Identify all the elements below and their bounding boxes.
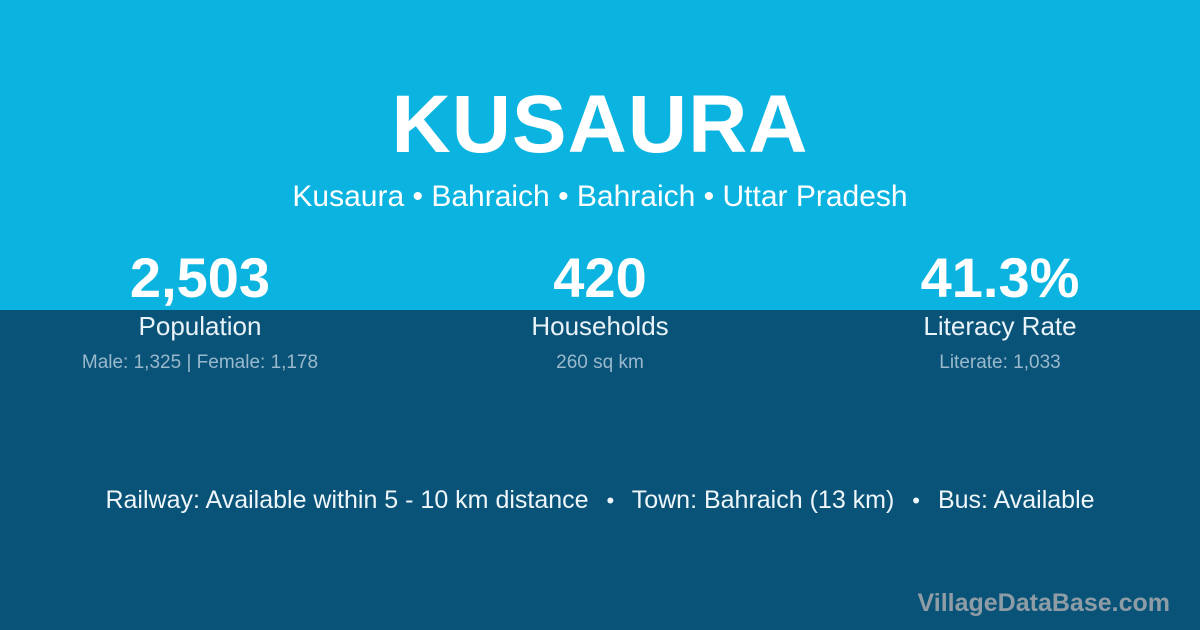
stat-population-label: Population <box>0 310 400 342</box>
stat-households-value: 420 <box>400 246 800 310</box>
card-header: KUSAURA Kusaura • Bahraich • Bahraich • … <box>0 0 1200 212</box>
amenity-railway: Railway: Available within 5 - 10 km dist… <box>105 486 588 514</box>
stat-literacy-rate: 41.3% Literacy Rate Literate: 1,033 <box>800 246 1200 374</box>
amenities-line: Railway: Available within 5 - 10 km dist… <box>0 483 1200 518</box>
site-brand-watermark: VillageDataBase.com <box>918 588 1170 618</box>
stat-literacy-rate-label: Literacy Rate <box>800 310 1200 342</box>
stat-population: 2,503 Population Male: 1,325 | Female: 1… <box>0 246 400 374</box>
breadcrumb: Kusaura • Bahraich • Bahraich • Uttar Pr… <box>0 166 1200 212</box>
amenity-bus: Bus: Available <box>938 486 1095 514</box>
amenity-separator-icon: • <box>901 484 931 518</box>
village-info-card: KUSAURA Kusaura • Bahraich • Bahraich • … <box>0 0 1200 630</box>
stat-literacy-rate-value: 41.3% <box>800 246 1200 310</box>
stat-households-label: Households <box>400 310 800 342</box>
stat-population-sub: Male: 1,325 | Female: 1,178 <box>0 352 400 374</box>
stats-row: 2,503 Population Male: 1,325 | Female: 1… <box>0 246 1200 374</box>
page-title: KUSAURA <box>0 0 1200 166</box>
stat-population-value: 2,503 <box>0 246 400 310</box>
stat-households: 420 Households 260 sq km <box>400 246 800 374</box>
stat-households-sub: 260 sq km <box>400 352 800 374</box>
stat-literacy-rate-sub: Literate: 1,033 <box>800 352 1200 374</box>
amenity-town: Town: Bahraich (13 km) <box>632 486 895 514</box>
amenity-separator-icon: • <box>596 484 626 518</box>
